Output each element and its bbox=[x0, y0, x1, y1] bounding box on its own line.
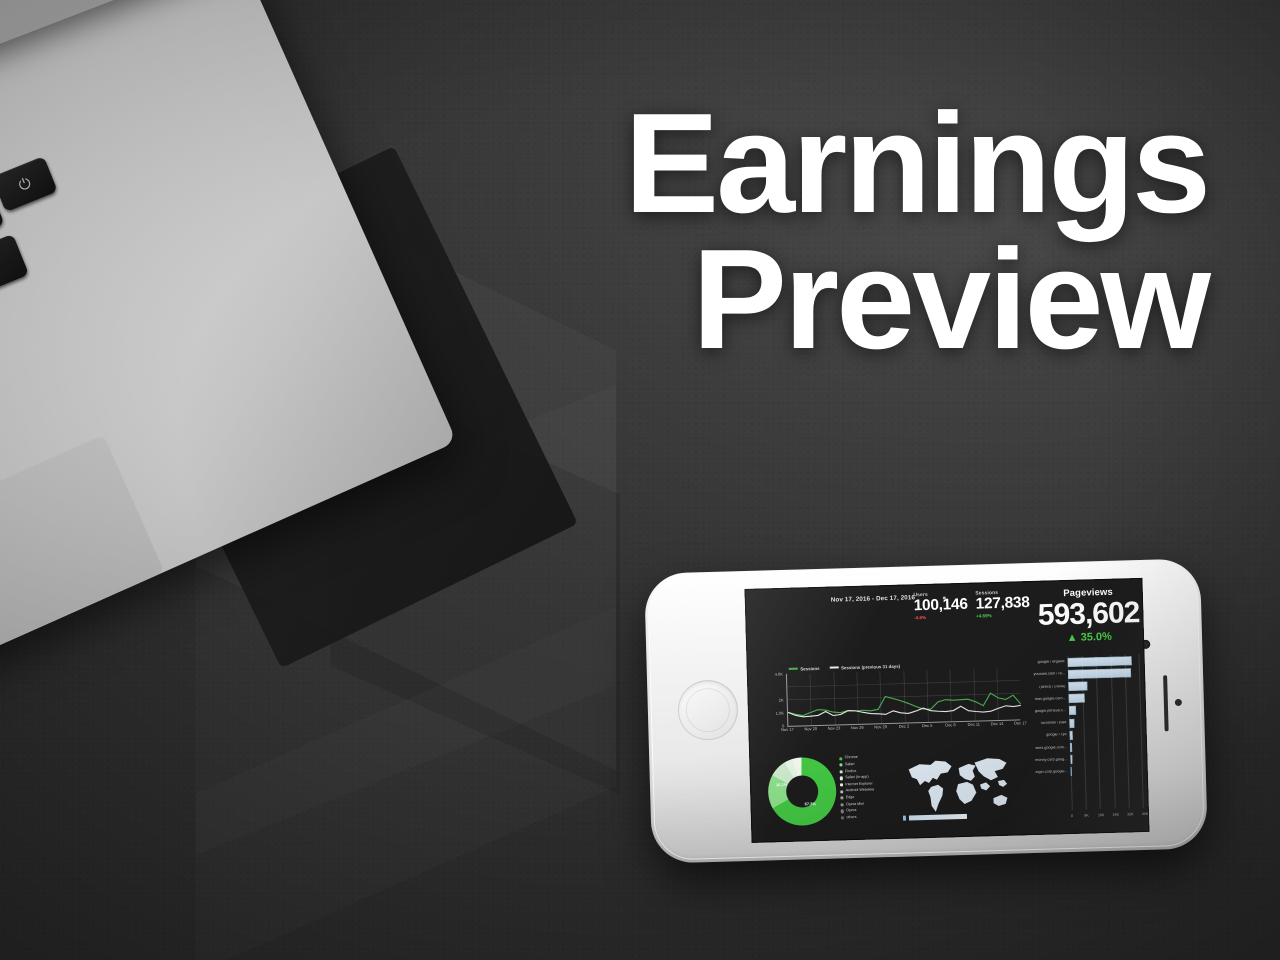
slide-canvas: P { ⏻ " } ⌫ | ↵ ⇧ ▶ bbox=[0, 0, 1280, 960]
page-title: Earnings Preview bbox=[608, 96, 1208, 369]
page-title-line-2: Preview bbox=[608, 232, 1208, 368]
page-title-line-1: Earnings bbox=[608, 96, 1208, 232]
